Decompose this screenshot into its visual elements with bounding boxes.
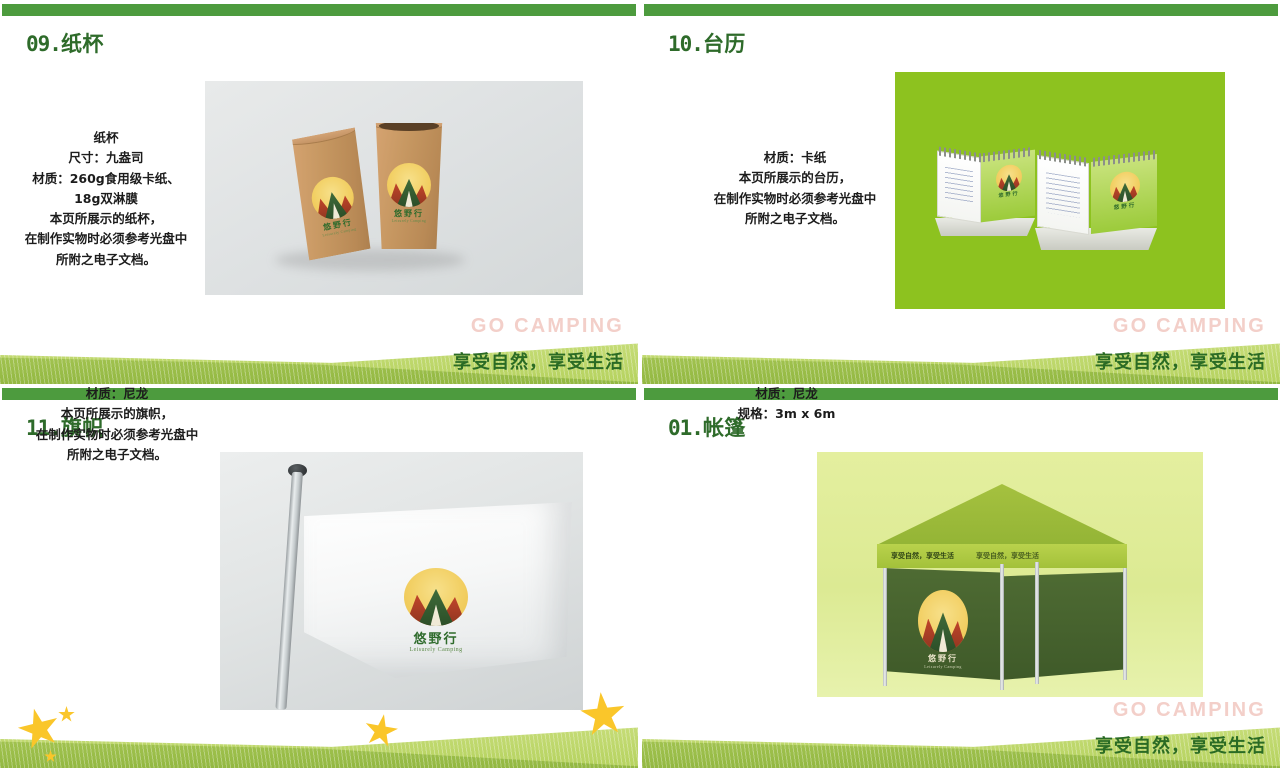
spec-text: 材质：卡纸 本页所展示的台历， 在制作实物时必须参考光盘中 所附之电子文档。: [680, 148, 910, 229]
logo-sun-disc: [1110, 170, 1140, 204]
flag-photo: 悠野行 Leisurely Camping: [220, 452, 583, 710]
tent-leg: [1123, 568, 1127, 680]
logo-sun-disc: [996, 163, 1022, 192]
paper-cup-left: 悠野行 Leisurely Camping: [286, 127, 378, 260]
logo-name-en: Leisurely Camping: [911, 664, 975, 669]
tent-leg: [883, 568, 887, 686]
grass-texture: [0, 724, 638, 768]
spec-text: 材质：尼龙 本页所展示的旗帜， 在制作实物时必须参考光盘中 所附之电子文档。: [12, 384, 222, 465]
logo-name-cn: 悠野行: [911, 653, 975, 664]
flag-pole: [275, 472, 303, 710]
slide-tent: 01.帐篷 材质：尼龙 规格：3m x 6m 享受自然，享受生活 享受自然，享受…: [642, 384, 1280, 768]
top-accent-bar: [2, 4, 636, 16]
footer-slogan-cn: 享受自然，享受生活: [1095, 732, 1266, 758]
cup-shadow: [275, 249, 465, 271]
logo-sun-disc: [308, 173, 357, 222]
spec-text: 材质：尼龙 规格：3m x 6m: [684, 384, 889, 425]
flag-cloth: 悠野行 Leisurely Camping: [304, 502, 572, 678]
slide-desk-calendar: 10.台历 材质：卡纸 本页所展示的台历， 在制作实物时必须参考光盘中 所附之电…: [642, 0, 1280, 384]
paper-cup-photo: 悠野行 Leisurely Camping 悠野行 Leisurely Camp…: [205, 81, 583, 295]
tent-leg: [1000, 564, 1004, 690]
tent-valance-text-right: 享受自然，享受生活: [954, 551, 1039, 561]
page-number: 09.: [26, 32, 61, 56]
slide-deck: 09.纸杯 纸杯 尺寸：九盎司 材质：260g食用级卡纸、 18g双淋膜 本页所…: [0, 0, 1280, 768]
brand-logo: 悠野行 Leisurely Camping: [302, 172, 366, 239]
logo-sun-disc: [918, 590, 968, 652]
tent-wall-left: 悠野行 Leisurely Camping: [883, 568, 1001, 680]
star-icon: [58, 706, 75, 723]
brand-logo: 悠野行: [993, 163, 1025, 200]
cup-rim: [283, 120, 359, 149]
logo-name-cn: 悠野行: [382, 208, 436, 219]
footer-slogan-cn: 享受自然，享受生活: [453, 348, 624, 374]
paper-cup-right: 悠野行 Leisurely Camping: [373, 123, 445, 249]
calendar-right-page: 悠野行: [1091, 154, 1157, 234]
tent-photo: 享受自然，享受生活 享受自然，享受生活 悠野行 Leisurely Campin…: [817, 452, 1203, 697]
calendar-date-grid: [1046, 172, 1080, 217]
tent-valance-text-left: 享受自然，享受生活: [877, 551, 954, 561]
page-title-text: 台历: [703, 32, 746, 56]
logo-name-en: Leisurely Camping: [382, 219, 436, 223]
top-accent-bar: [644, 4, 1278, 16]
page-number: 10.: [668, 32, 703, 56]
footer-slogan-en: GO CAMPING: [1113, 699, 1266, 722]
footer-slogan-en: GO CAMPING: [471, 315, 624, 338]
footer-slogan-cn: 享受自然，享受生活: [1095, 348, 1266, 374]
page-title: 09.纸杯: [26, 28, 104, 58]
tent-wall-right: [1001, 572, 1127, 680]
logo-name-cn: 悠野行: [396, 628, 476, 647]
slide-flag: 11.旗帜 材质：尼龙 本页所展示的旗帜， 在制作实物时必须参考光盘中 所附之电…: [0, 384, 638, 768]
brand-logo: 悠野行 Leisurely Camping: [382, 163, 436, 223]
brand-logo: 悠野行 Leisurely Camping: [396, 568, 476, 653]
page-title-text: 纸杯: [61, 32, 104, 56]
tent-leg: [1035, 562, 1039, 684]
calendar-left-page: [937, 151, 981, 224]
desk-calendar-photo: 悠野行: [895, 72, 1225, 309]
calendar-left-page: [1037, 155, 1089, 235]
footer-slogan-en: GO CAMPING: [1113, 315, 1266, 338]
brand-logo: 悠野行 Leisurely Camping: [911, 590, 975, 669]
slide-paper-cup: 09.纸杯 纸杯 尺寸：九盎司 材质：260g食用级卡纸、 18g双淋膜 本页所…: [0, 0, 638, 384]
page-title: 10.台历: [668, 28, 746, 58]
calendar-date-grid: [945, 167, 973, 205]
cup-interior: [379, 121, 440, 131]
logo-name-en: Leisurely Camping: [396, 647, 476, 653]
spec-text: 纸杯 尺寸：九盎司 材质：260g食用级卡纸、 18g双淋膜 本页所展示的纸杯，…: [8, 128, 204, 270]
logo-sun-disc: [404, 568, 468, 626]
brand-logo: 悠野行: [1107, 170, 1143, 212]
logo-sun-disc: [387, 163, 431, 207]
grass-band: [0, 724, 638, 768]
